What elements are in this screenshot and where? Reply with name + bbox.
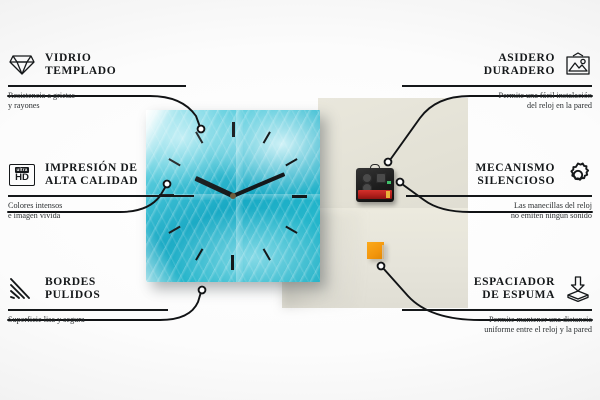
feature-title-line-1: IMPRESIÓN DE bbox=[45, 162, 138, 176]
feature-desc-line-2: del reloj en la pared bbox=[396, 101, 592, 112]
ultra-hd-icon: ultra HD bbox=[8, 161, 36, 189]
hd-badge-main-label: HD bbox=[15, 173, 29, 183]
feature-description: Las manecillas del reloj no emiten ningú… bbox=[396, 201, 592, 222]
feature-description: Colores intensos e imagen vívida bbox=[8, 201, 204, 222]
feature-desc-line-1: Permite una fácil instalación bbox=[396, 91, 592, 102]
feature-divider bbox=[402, 309, 592, 311]
product-infographic: VIDRIO TEMPLADO Resistencia a grietas y … bbox=[0, 0, 600, 400]
feature-bordes-pulidos: BORDES PULIDOS Superficie lisa y segura bbox=[8, 272, 204, 325]
polished-edges-icon bbox=[8, 275, 36, 303]
clock-tick-6 bbox=[232, 196, 234, 270]
aa-battery bbox=[358, 190, 392, 199]
movement-hanger-tab bbox=[370, 164, 380, 170]
feature-header: ultra HD IMPRESIÓN DE ALTA CALIDAD bbox=[8, 158, 204, 192]
movement-dial-b bbox=[376, 173, 386, 183]
clock-movement-box bbox=[356, 168, 394, 202]
feature-desc-line-2: no emiten ningún sonido bbox=[396, 211, 592, 222]
feature-title-line-2: TEMPLADO bbox=[45, 65, 116, 79]
feature-header: BORDES PULIDOS bbox=[8, 272, 204, 306]
feature-desc-line-1: Superficie lisa y segura bbox=[8, 315, 204, 326]
diamond-icon bbox=[8, 51, 36, 79]
feature-desc-line-1: Colores intensos bbox=[8, 201, 204, 212]
movement-indicator bbox=[387, 181, 391, 184]
picture-hanger-icon bbox=[564, 51, 592, 79]
feature-description: Superficie lisa y segura bbox=[8, 315, 204, 326]
feature-title-line-1: MECANISMO bbox=[475, 162, 555, 176]
feature-desc-line-1: Resistencia a grietas bbox=[8, 91, 204, 102]
feature-title-line-1: VIDRIO bbox=[45, 52, 116, 66]
feature-impresion-alta-calidad: ultra HD IMPRESIÓN DE ALTA CALIDAD Color… bbox=[8, 158, 204, 222]
feature-header: ASIDERO DURADERO bbox=[396, 48, 592, 82]
feature-divider bbox=[8, 309, 168, 311]
feature-title-line-2: SILENCIOSO bbox=[475, 175, 555, 189]
feature-header: MECANISMO SILENCIOSO bbox=[396, 158, 592, 192]
feature-divider bbox=[406, 195, 592, 197]
clock-tick-3 bbox=[233, 195, 307, 197]
feature-asidero-duradero: ASIDERO DURADERO Permite una fácil insta… bbox=[396, 48, 592, 112]
feature-header: ESPACIADOR DE ESPUMA bbox=[396, 272, 592, 306]
feature-title: MECANISMO SILENCIOSO bbox=[475, 162, 555, 189]
feature-title: VIDRIO TEMPLADO bbox=[45, 52, 116, 79]
feature-title: ESPACIADOR DE ESPUMA bbox=[474, 276, 555, 303]
feature-divider bbox=[8, 195, 194, 197]
feature-desc-line-1: Las manecillas del reloj bbox=[396, 201, 592, 212]
feature-description: Permite una fácil instalación del reloj … bbox=[396, 91, 592, 112]
feature-description: Permite mantener una distancia uniforme … bbox=[396, 315, 592, 336]
clock-tick-12 bbox=[232, 122, 234, 196]
feature-desc-line-2: y rayones bbox=[8, 101, 204, 112]
arrow-down-layer-icon bbox=[564, 275, 592, 303]
feature-divider bbox=[402, 85, 592, 87]
feature-title-line-1: BORDES bbox=[45, 276, 100, 290]
feature-mecanismo-silencioso: MECANISMO SILENCIOSO Las manecillas del … bbox=[396, 158, 592, 222]
foam-spacer-block bbox=[367, 242, 384, 259]
feature-title: BORDES PULIDOS bbox=[45, 276, 100, 303]
clock-center-cap bbox=[230, 193, 236, 199]
feature-vidrio-templado: VIDRIO TEMPLADO Resistencia a grietas y … bbox=[8, 48, 204, 112]
feature-title: IMPRESIÓN DE ALTA CALIDAD bbox=[45, 162, 138, 189]
feature-divider bbox=[8, 85, 186, 87]
feature-desc-line-2: uniforme entre el reloj y la pared bbox=[396, 325, 592, 336]
feature-title-line-2: DURADERO bbox=[484, 65, 555, 79]
gear-icon bbox=[564, 161, 592, 189]
hd-badge: ultra HD bbox=[9, 164, 35, 186]
feature-title-line-2: DE ESPUMA bbox=[474, 289, 555, 303]
feature-title-line-1: ASIDERO bbox=[484, 52, 555, 66]
movement-dial-a bbox=[362, 173, 372, 183]
feature-title-line-2: ALTA CALIDAD bbox=[45, 175, 138, 189]
feature-title-line-1: ESPACIADOR bbox=[474, 276, 555, 290]
feature-description: Resistencia a grietas y rayones bbox=[8, 91, 204, 112]
feature-header: VIDRIO TEMPLADO bbox=[8, 48, 204, 82]
feature-title: ASIDERO DURADERO bbox=[484, 52, 555, 79]
feature-desc-line-1: Permite mantener una distancia bbox=[396, 315, 592, 326]
feature-espaciador-de-espuma: ESPACIADOR DE ESPUMA Permite mantener un… bbox=[396, 272, 592, 336]
feature-desc-line-2: e imagen vívida bbox=[8, 211, 204, 222]
feature-title-line-2: PULIDOS bbox=[45, 289, 100, 303]
